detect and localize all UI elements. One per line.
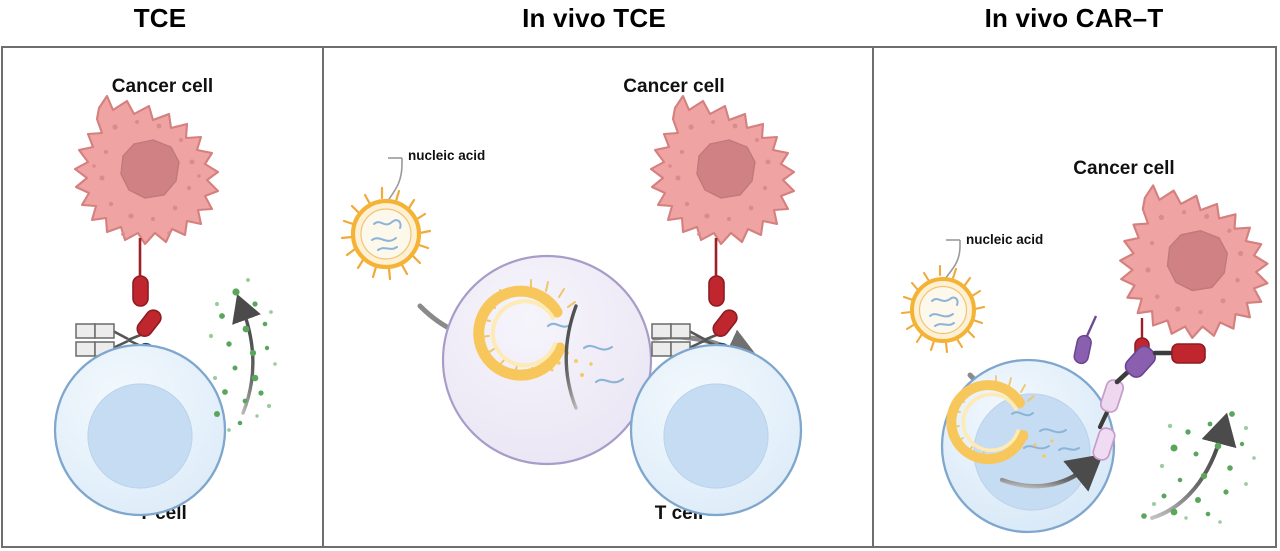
cancer-cell-nucleus	[121, 140, 179, 198]
car-receptor	[1091, 343, 1205, 462]
activation-arrow	[243, 310, 253, 413]
nucleic-acid-leader-line	[942, 240, 960, 284]
lipid-nanoparticle	[902, 266, 984, 352]
cancer-cell-label: Cancer cell	[984, 158, 1264, 180]
t-cell	[55, 345, 225, 515]
cancer-cell	[1120, 185, 1267, 337]
cytotoxic-granules	[1141, 411, 1256, 524]
car-intracellular-domain	[1091, 426, 1116, 461]
nucleic-acid-leader-line	[384, 158, 402, 208]
panel-in-vivo-car-t: nucleic acid Cancer cell T cell	[874, 48, 1275, 546]
uptake-arrow	[420, 306, 492, 339]
drug-factory-label: “体内药厂”	[452, 343, 642, 368]
tumor-antigen	[133, 238, 148, 306]
secretion-arrow	[654, 337, 740, 353]
panel-title-in-vivo-tce: In vivo TCE	[320, 3, 868, 34]
panel-title-tce: TCE	[0, 3, 320, 34]
panel-in-vivo-tce-graphic	[324, 48, 872, 546]
cytoplasm-speckles	[1145, 210, 1243, 314]
tumor-antigen	[1073, 316, 1149, 366]
cytotoxic-granules	[209, 278, 277, 432]
panel-in-vivo-tce: nucleic acid Cancer cell “体内药厂” T cell	[322, 48, 874, 546]
car-scfv-domain	[1122, 343, 1158, 380]
panel-tce-graphic	[3, 48, 322, 546]
intracellular-arrow	[1002, 468, 1086, 486]
figure-canvas: TCE In vivo TCE In vivo CAR–T Cancer cel…	[0, 0, 1280, 551]
panels-container: Cancer cell T cell	[1, 46, 1277, 548]
tce-bispecific-antibody	[76, 307, 165, 373]
cd3-receptor	[133, 365, 148, 430]
cancer-cell	[75, 96, 218, 244]
anti-cd3-arm	[711, 341, 740, 373]
panel-title-in-vivo-car-t: In vivo CAR–T	[868, 3, 1280, 34]
t-cell-nucleus	[974, 394, 1090, 510]
t-cell-label: T cell	[3, 503, 322, 525]
cancer-cell-nucleus	[697, 140, 755, 198]
cd3-receptor	[709, 365, 724, 430]
anti-tumor-arm	[710, 307, 740, 339]
lipid-nanoparticle	[342, 188, 430, 279]
cancer-cell-label: Cancer cell	[509, 76, 839, 98]
t-cell-label: T cell	[924, 503, 1144, 525]
nucleic-acid-label: nucleic acid	[966, 232, 1043, 247]
cancer-cell-nucleus	[1168, 231, 1228, 291]
anti-tumor-arm	[134, 307, 164, 339]
t-cell	[631, 345, 801, 515]
released-nucleic-acid	[1012, 412, 1079, 450]
nucleic-acid-strand	[372, 220, 401, 250]
cytoplasm-speckles	[92, 120, 201, 236]
tumor-antigen	[709, 238, 724, 306]
lipid-fragments	[1004, 436, 1054, 458]
uptake-arrow	[970, 375, 1020, 414]
activation-arrow	[1152, 432, 1222, 518]
cytoplasm-speckles	[668, 120, 770, 236]
panel-titles: TCE In vivo TCE In vivo CAR–T	[0, 0, 1280, 44]
t-cell-nucleus	[664, 384, 768, 488]
nucleic-acid-strand	[930, 298, 958, 326]
anti-cd3-arm	[135, 341, 164, 373]
car-antigen-binding-module	[1172, 344, 1205, 363]
opened-nanoparticle	[951, 376, 1079, 462]
panel-tce: Cancer cell T cell	[3, 48, 322, 546]
cancer-cell-label: Cancer cell	[3, 76, 322, 98]
car-transmembrane-domain	[1099, 378, 1125, 414]
t-cell-label: T cell	[529, 503, 829, 525]
t-cell-nucleus	[88, 384, 192, 488]
cancer-cell	[651, 96, 794, 244]
panel-in-vivo-car-t-graphic	[874, 48, 1275, 546]
nucleic-acid-label: nucleic acid	[408, 148, 485, 163]
tce-bispecific-antibody	[652, 307, 741, 373]
